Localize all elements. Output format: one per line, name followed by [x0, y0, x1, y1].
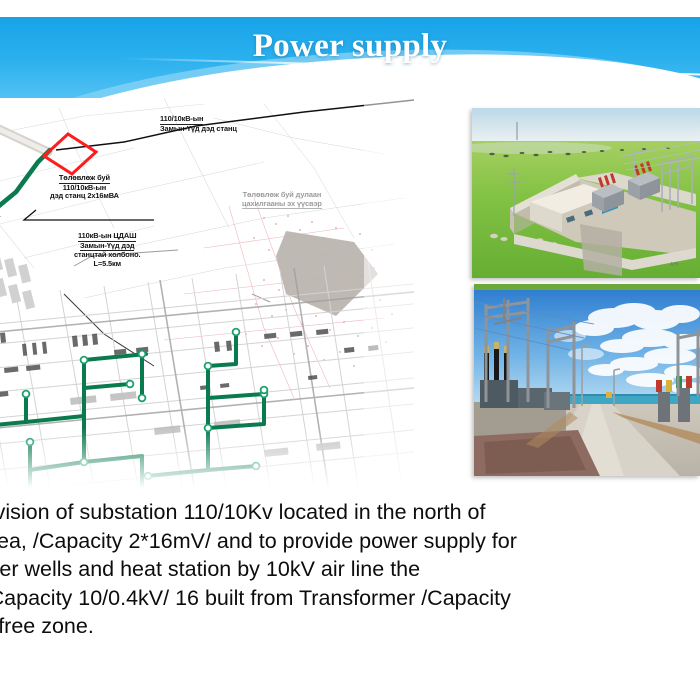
body-line: ion /Capacity 10/0.4kV/ 16 built from Tr… — [0, 584, 700, 613]
slide-body-text: en division of substation 110/10Kv locat… — [0, 498, 700, 641]
map-label-planned-heat-power-source: Төлөвлөж буй дулаан цахилгааны эх үүсвэр — [242, 191, 322, 209]
map-label-line-3: станцтай холбоно. — [74, 250, 140, 259]
power-network-map: 110/10кВ-ын Замын-Үүд дэд станц Төлөвлөж… — [0, 98, 414, 488]
map-label-transmission-line: 110кВ-ын ЦДАШ Замын-Үүд дэд станцтай хол… — [74, 232, 140, 269]
slide-canvas: Power supply — [0, 0, 700, 700]
map-label-line-2: 110/10кВ-ын — [63, 183, 106, 192]
body-line: he area, /Capacity 2*16mV/ and to provid… — [0, 527, 700, 556]
body-line: g water wells and heat station by 10kV a… — [0, 555, 700, 584]
map-label-line-4: L=5.5км — [93, 259, 121, 268]
body-line: V/ of free zone. — [0, 612, 700, 641]
map-graphic — [0, 98, 414, 488]
map-label-planned-substation: Төлөвлөж буй 110/10кВ-ын дэд станц 2х16м… — [50, 174, 119, 201]
slide-title: Power supply — [0, 28, 700, 65]
map-label-line-2: цахилгааны эх үүсвэр — [242, 200, 322, 210]
map-label-line-3: дэд станц 2х16мВА — [50, 191, 119, 200]
body-line: en division of substation 110/10Kv locat… — [0, 498, 700, 527]
substation-3d-render-photo: AHI — [472, 108, 700, 278]
map-label-line-1: Төлөвлөж буй дулаан — [243, 190, 322, 199]
svg-text:AHI: AHI — [670, 262, 678, 268]
substation-yard-photo — [474, 284, 700, 476]
map-label-line-2: Замын-Үүд дэд станц — [160, 124, 237, 133]
map-label-substation-zamyn-uud: 110/10кВ-ын Замын-Үүд дэд станц — [160, 115, 237, 133]
